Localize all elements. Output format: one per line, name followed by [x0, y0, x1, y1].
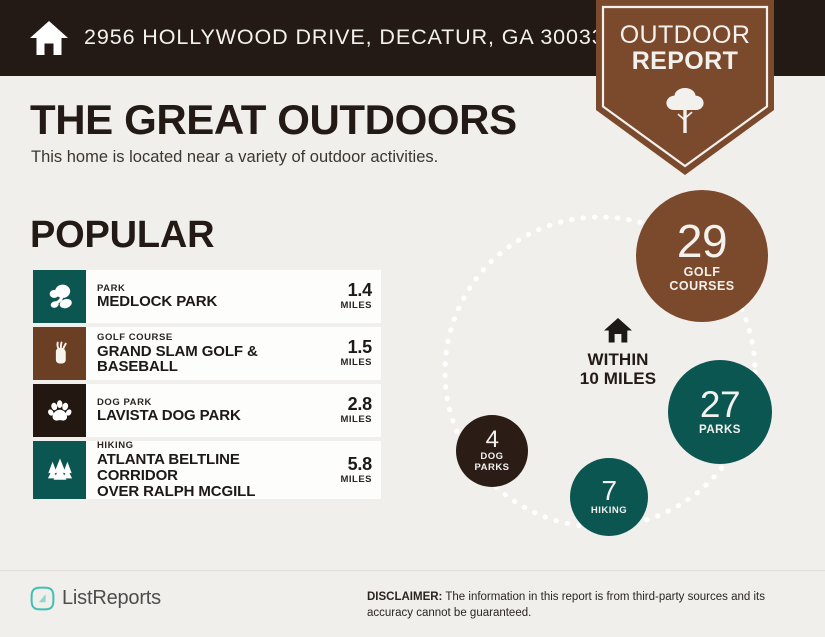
list-item-text: PARK MEDLOCK PARK	[86, 270, 314, 323]
list-item-distance: 2.8 MILES	[314, 384, 381, 437]
badge-title-line2: REPORT	[596, 47, 774, 76]
distance-unit: MILES	[340, 414, 372, 425]
pine-trees-icon	[33, 441, 86, 499]
list-item-category: GOLF COURSE	[97, 332, 314, 344]
popular-list: PARK MEDLOCK PARK 1.4 MILES GOLF COURSE	[33, 270, 381, 503]
list-item-text: DOG PARK LAVISTA DOG PARK	[86, 384, 314, 437]
stat-circle-hiking[interactable]: 7 HIKING	[570, 458, 648, 536]
stat-circle-dog-parks[interactable]: 4 DOG PARKS	[456, 415, 528, 487]
distance-value: 2.8	[348, 395, 372, 414]
page-subtitle: This home is located near a variety of o…	[31, 148, 438, 167]
stat-value: 29	[677, 219, 727, 263]
stat-label: HIKING	[591, 506, 627, 517]
list-item-distance: 1.5 MILES	[314, 327, 381, 380]
list-item[interactable]: PARK MEDLOCK PARK 1.4 MILES	[33, 270, 381, 323]
stat-label: DOG PARKS	[474, 452, 509, 473]
listreports-logo[interactable]: ListReports	[30, 586, 161, 611]
park-tree-icon	[33, 270, 86, 323]
list-item[interactable]: HIKING ATLANTA BELTLINE CORRIDOR OVER RA…	[33, 441, 381, 499]
property-address: 2956 HOLLYWOOD DRIVE, DECATUR, GA 30033	[84, 25, 605, 50]
distance-value: 1.4	[348, 281, 372, 300]
list-item[interactable]: GOLF COURSE GRAND SLAM GOLF & BASEBALL 1…	[33, 327, 381, 380]
distance-value: 1.5	[348, 338, 372, 357]
tree-icon	[664, 86, 706, 134]
disclaimer: DISCLAIMER: The information in this repo…	[367, 590, 797, 622]
distance-unit: MILES	[340, 474, 372, 485]
list-item-name: ATLANTA BELTLINE CORRIDOR OVER RALPH MCG…	[97, 452, 314, 500]
distance-unit: MILES	[340, 357, 372, 368]
stat-label: PARKS	[699, 424, 741, 437]
disclaimer-label: DISCLAIMER:	[367, 591, 442, 603]
outdoor-report-badge: OUTDOOR REPORT	[596, 0, 774, 175]
listreports-logo-icon	[30, 586, 55, 611]
stat-value: 7	[601, 478, 616, 505]
stat-circle-golf-courses[interactable]: 29 GOLF COURSES	[636, 190, 768, 322]
home-icon	[603, 317, 633, 344]
list-item-distance: 1.4 MILES	[314, 270, 381, 323]
listreports-logo-text: ListReports	[62, 587, 161, 610]
badge-title-line1: OUTDOOR	[596, 21, 774, 50]
popular-section-title: POPULAR	[30, 216, 214, 254]
list-item-text: HIKING ATLANTA BELTLINE CORRIDOR OVER RA…	[86, 441, 314, 499]
stat-label: GOLF COURSES	[669, 265, 734, 293]
list-item[interactable]: DOG PARK LAVISTA DOG PARK 2.8 MILES	[33, 384, 381, 437]
outdoor-report-page: 2956 HOLLYWOOD DRIVE, DECATUR, GA 30033 …	[0, 0, 825, 637]
list-item-text: GOLF COURSE GRAND SLAM GOLF & BASEBALL	[86, 327, 314, 380]
list-item-name: GRAND SLAM GOLF & BASEBALL	[97, 344, 314, 376]
distance-value: 5.8	[348, 455, 372, 474]
golf-bag-icon	[33, 327, 86, 380]
page-title: THE GREAT OUTDOORS	[30, 99, 517, 141]
within-label: WITHIN 10 MILES	[538, 350, 698, 388]
distance-unit: MILES	[340, 300, 372, 311]
paw-print-icon	[33, 384, 86, 437]
list-item-name: LAVISTA DOG PARK	[97, 408, 314, 424]
stat-value: 4	[486, 428, 499, 451]
home-icon	[28, 17, 70, 59]
stat-value: 27	[700, 387, 740, 423]
diagram-center: WITHIN 10 MILES	[538, 317, 698, 388]
list-item-distance: 5.8 MILES	[314, 441, 381, 499]
list-item-name: MEDLOCK PARK	[97, 294, 314, 310]
footer-divider	[0, 570, 825, 571]
within-10-miles-diagram: 29 GOLF COURSES 27 PARKS 7 HIKING 4 DOG …	[420, 175, 825, 555]
